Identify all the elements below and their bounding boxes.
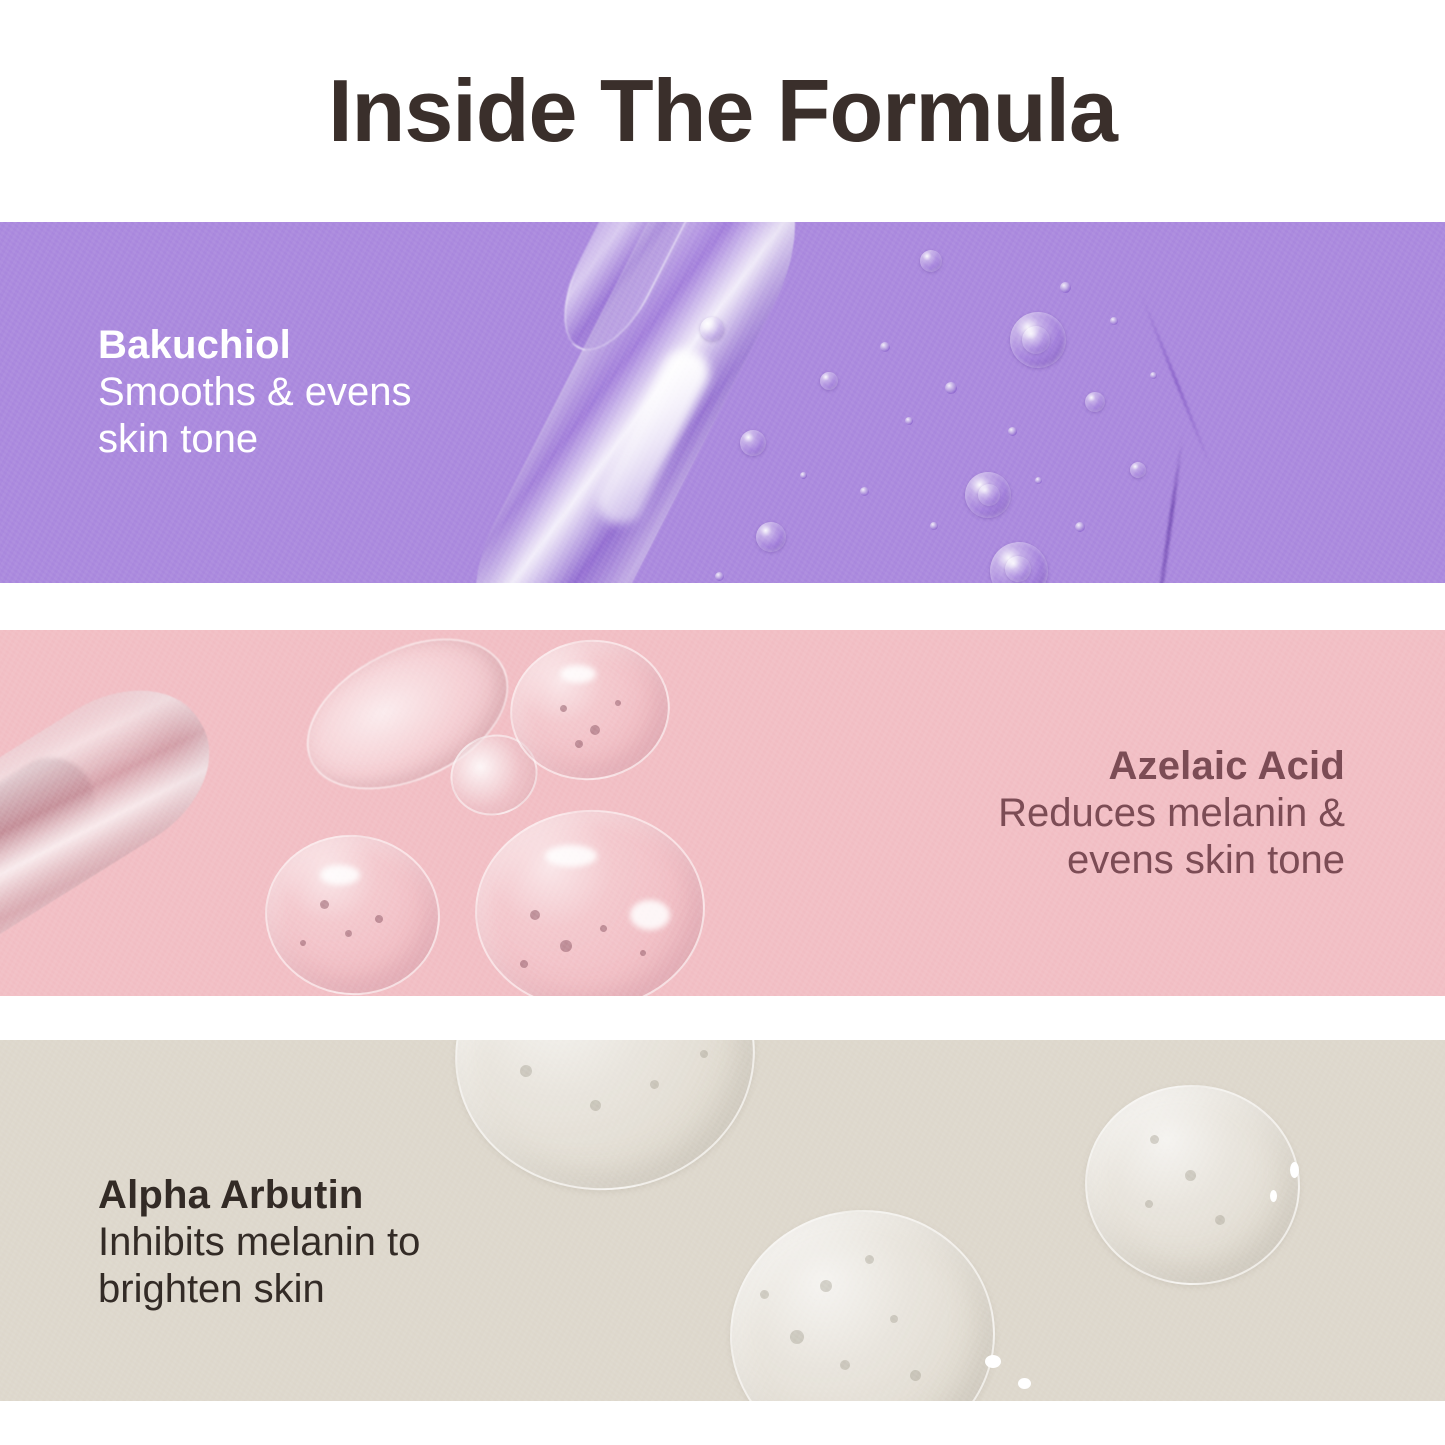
- page-title: Inside The Formula: [328, 67, 1117, 155]
- droplet-fleck-icon: [1145, 1200, 1153, 1208]
- gel-droplet-icon: [1078, 1078, 1306, 1293]
- bubble-icon: [1005, 556, 1031, 582]
- droplet-fleck-icon: [560, 705, 567, 712]
- gel-droplet-icon: [257, 826, 448, 996]
- droplet-fleck-icon: [590, 725, 600, 735]
- ingredient-name: Bakuchiol: [98, 322, 412, 369]
- ingredient-text-azelaic-acid: Azelaic Acid Reduces melanin & evens ski…: [998, 743, 1345, 885]
- micro-bubble-icon: [930, 522, 938, 530]
- droplet-fleck-icon: [650, 1080, 659, 1089]
- ingredient-name: Azelaic Acid: [998, 743, 1345, 790]
- droplet-highlight-icon: [545, 845, 597, 867]
- ingredient-band-alpha-arbutin: Alpha Arbutin Inhibits melanin to bright…: [0, 1040, 1445, 1401]
- droplet-fleck-icon: [560, 940, 572, 952]
- droplet-fleck-icon: [865, 1255, 874, 1264]
- glass-dropper-icon: [0, 657, 239, 996]
- droplet-fleck-icon: [600, 925, 607, 932]
- ingredient-text-alpha-arbutin: Alpha Arbutin Inhibits melanin to bright…: [98, 1172, 420, 1314]
- bubble-icon: [1130, 462, 1146, 478]
- bubble-icon: [1085, 392, 1105, 412]
- droplet-fleck-icon: [640, 950, 646, 956]
- droplet-fleck-icon: [890, 1315, 898, 1323]
- ingredient-name: Alpha Arbutin: [98, 1172, 420, 1219]
- droplet-highlight-icon: [560, 665, 596, 683]
- bubble-icon: [820, 372, 838, 390]
- droplet-highlight-icon: [1018, 1378, 1031, 1389]
- micro-bubble-icon: [1150, 372, 1157, 379]
- droplet-fleck-icon: [820, 1280, 832, 1292]
- micro-bubble-icon: [1008, 427, 1017, 436]
- bubble-icon: [1022, 326, 1050, 354]
- droplet-fleck-icon: [520, 1065, 532, 1077]
- droplet-fleck-icon: [575, 740, 583, 748]
- ingredient-description-line2: skin tone: [98, 416, 412, 463]
- droplet-fleck-icon: [615, 700, 621, 706]
- droplet-fleck-icon: [910, 1370, 921, 1381]
- gel-droplet-icon: [468, 802, 711, 996]
- gel-droplet-icon: [724, 1203, 1002, 1401]
- bubble-icon: [740, 430, 766, 456]
- ingredient-description-line2: brighten skin: [98, 1266, 420, 1313]
- micro-bubble-icon: [945, 382, 957, 394]
- droplet-fleck-icon: [700, 1050, 708, 1058]
- droplet-fleck-icon: [1215, 1215, 1225, 1225]
- droplet-fleck-icon: [840, 1360, 850, 1370]
- micro-bubble-icon: [715, 572, 724, 581]
- droplet-highlight-icon: [320, 865, 360, 885]
- droplet-fleck-icon: [520, 960, 528, 968]
- droplet-fleck-icon: [790, 1330, 804, 1344]
- ingredient-band-bakuchiol: Bakuchiol Smooths & evens skin tone: [0, 222, 1445, 583]
- droplet-fleck-icon: [345, 930, 352, 937]
- droplet-highlight-icon: [630, 900, 670, 930]
- micro-bubble-icon: [1060, 282, 1071, 293]
- micro-bubble-icon: [905, 417, 913, 425]
- ingredient-description-line1: Inhibits melanin to: [98, 1219, 420, 1266]
- droplet-fleck-icon: [1150, 1135, 1159, 1144]
- droplet-highlight-icon: [1270, 1190, 1277, 1202]
- title-area: Inside The Formula: [0, 0, 1445, 222]
- micro-bubble-icon: [1110, 317, 1118, 325]
- ingredient-description-line1: Reduces melanin &: [998, 790, 1345, 837]
- ingredient-description-line2: evens skin tone: [998, 837, 1345, 884]
- bubble-icon: [920, 250, 942, 272]
- droplet-fleck-icon: [1185, 1170, 1196, 1181]
- droplet-highlight-icon: [1290, 1162, 1299, 1178]
- micro-bubble-icon: [800, 472, 807, 479]
- droplet-fleck-icon: [375, 915, 383, 923]
- ingredient-text-bakuchiol: Bakuchiol Smooths & evens skin tone: [98, 322, 412, 464]
- droplet-fleck-icon: [590, 1100, 601, 1111]
- bubble-icon: [978, 484, 1000, 506]
- inside-the-formula-infographic: Inside The Formula: [0, 0, 1445, 1445]
- droplet-fleck-icon: [300, 940, 306, 946]
- micro-bubble-icon: [1075, 522, 1085, 532]
- droplet-highlight-icon: [985, 1355, 1001, 1368]
- droplet-fleck-icon: [530, 910, 540, 920]
- micro-bubble-icon: [1035, 477, 1042, 484]
- droplet-fleck-icon: [760, 1290, 769, 1299]
- bubble-icon: [756, 522, 786, 552]
- droplet-fleck-icon: [320, 900, 329, 909]
- gel-droplet-icon: [442, 1040, 769, 1205]
- ingredient-description-line1: Smooths & evens: [98, 369, 412, 416]
- ingredient-band-azelaic-acid: Azelaic Acid Reduces melanin & evens ski…: [0, 630, 1445, 996]
- purple-gel-field: [700, 222, 1445, 583]
- micro-bubble-icon: [880, 342, 890, 352]
- micro-bubble-icon: [860, 487, 869, 496]
- bubble-icon: [700, 317, 724, 341]
